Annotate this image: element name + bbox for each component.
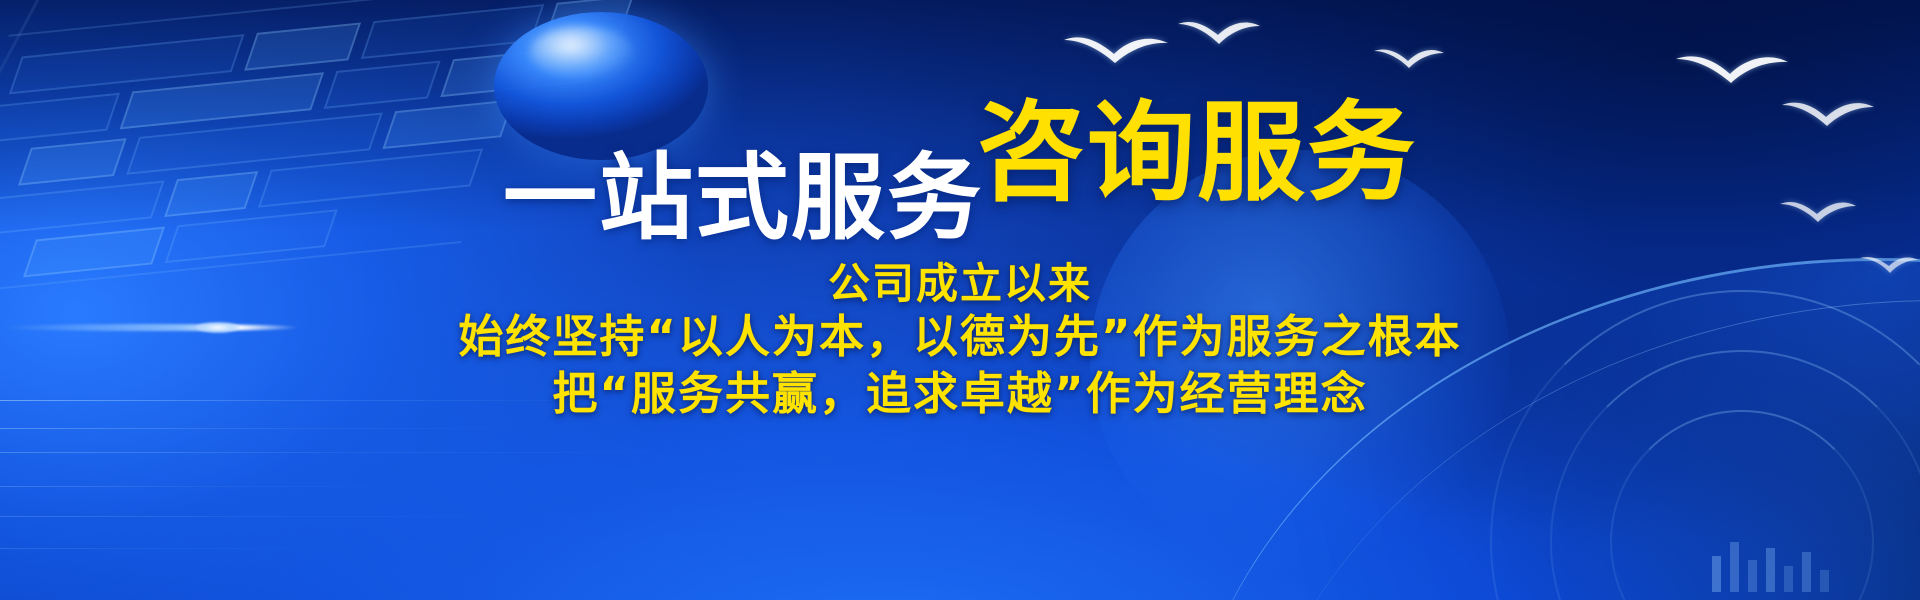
headline: 一站式服务 咨询服务 (0, 62, 1920, 212)
body-line-2: 始终坚持“以人为本，以德为先”作为服务之根本 (458, 309, 1461, 366)
headline-yellow-text: 咨询服务 (977, 100, 1417, 208)
body-line-3: 把“服务共赢，追求卓越”作为经营理念 (552, 366, 1367, 423)
service-banner: 一站式服务 咨询服务 公司成立以来 始终坚持“以人为本，以德为先”作为服务之根本… (0, 0, 1920, 600)
body-copy: 公司成立以来 始终坚持“以人为本，以德为先”作为服务之根本 把“服务共赢，追求卓… (0, 258, 1920, 423)
headline-white-text: 一站式服务 (503, 152, 983, 246)
body-line-1: 公司成立以来 (828, 258, 1092, 309)
